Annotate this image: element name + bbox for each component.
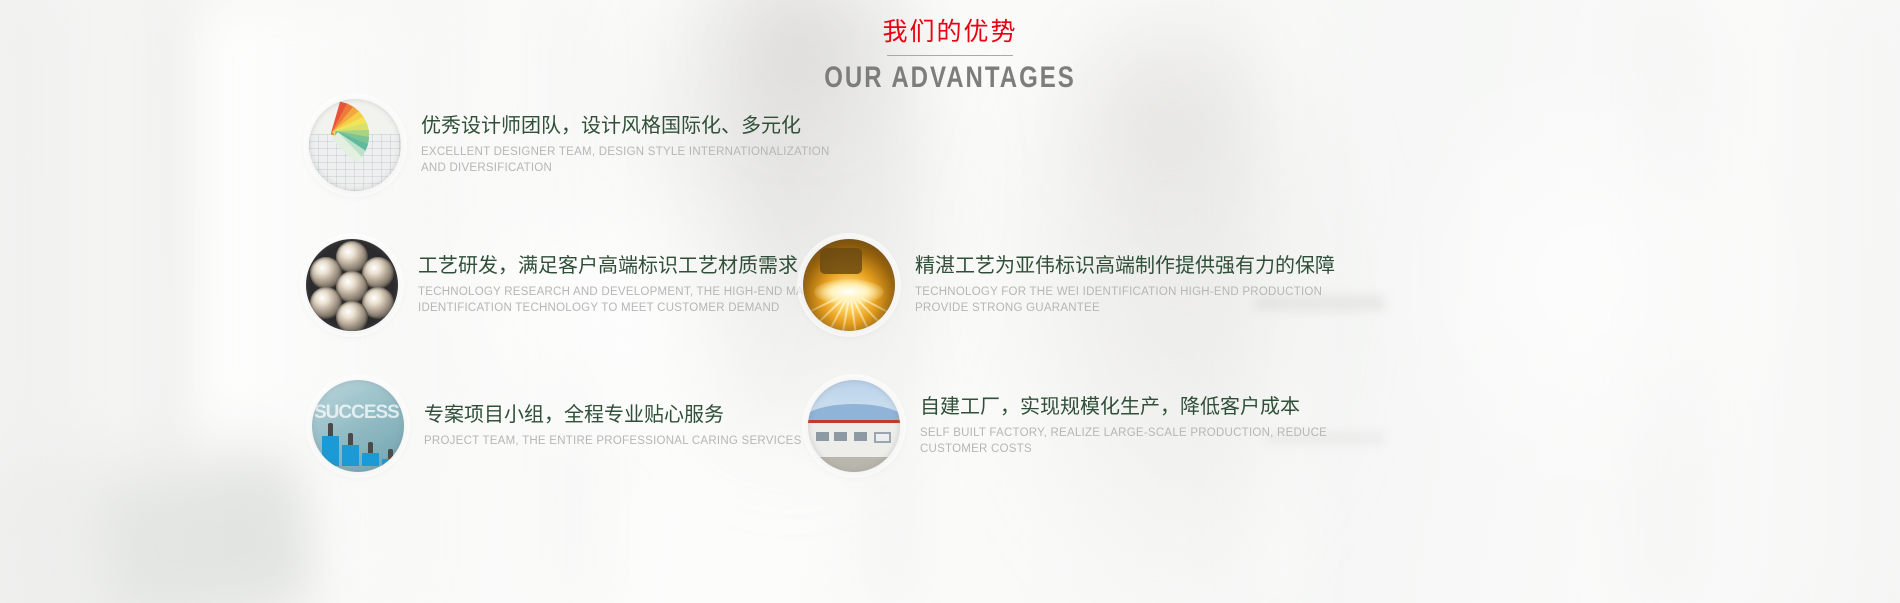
color-swatch-fan-icon <box>309 99 401 191</box>
title-divider <box>887 55 1013 56</box>
success-chart-icon: SUCCESS <box>312 380 404 472</box>
feature-item-self-built-factory[interactable]: 自建工厂，实现规模化生产，降低客户成本 SELF BUILT FACTORY, … <box>808 380 1327 472</box>
page-title: 我们的优势 <box>0 18 1900 46</box>
feature-headline: 精湛工艺为亚伟标识高端制作提供强有力的保障 <box>915 253 1335 278</box>
feature-subtext: SELF BUILT FACTORY, REALIZE LARGE-SCALE … <box>920 426 1327 457</box>
feature-subtext: PROJECT TEAM, THE ENTIRE PROFESSIONAL CA… <box>424 434 802 450</box>
feature-subtext: TECHNOLOGY RESEARCH AND DEVELOPMENT, THE… <box>418 285 845 316</box>
feature-item-technology-rd[interactable]: 工艺研发，满足客户高端标识工艺材质需求 TECHNOLOGY RESEARCH … <box>306 239 845 331</box>
laser-cutting-sparks-icon <box>803 239 895 331</box>
feature-item-project-team[interactable]: SUCCESS 专案项目小组，全程专业贴心服务 PROJECT TEAM, TH… <box>312 380 802 472</box>
factory-building-icon <box>808 380 900 472</box>
feature-headline: 自建工厂，实现规模化生产，降低客户成本 <box>920 394 1327 419</box>
feature-headline: 工艺研发，满足客户高端标识工艺材质需求 <box>418 253 845 278</box>
metal-tubes-icon <box>306 239 398 331</box>
feature-headline: 优秀设计师团队，设计风格国际化、多元化 <box>421 113 830 138</box>
feature-item-designer-team[interactable]: 优秀设计师团队，设计风格国际化、多元化 EXCELLENT DESIGNER T… <box>309 99 830 191</box>
feature-item-craftsmanship-guarantee[interactable]: 精湛工艺为亚伟标识高端制作提供强有力的保障 TECHNOLOGY FOR THE… <box>803 239 1335 331</box>
feature-subtext: EXCELLENT DESIGNER TEAM, DESIGN STYLE IN… <box>421 145 830 176</box>
section-heading: 我们的优势 OUR ADVANTAGES <box>0 18 1900 95</box>
feature-subtext: TECHNOLOGY FOR THE WEI IDENTIFICATION HI… <box>915 285 1335 316</box>
page-subtitle: OUR ADVANTAGES <box>190 61 1710 95</box>
feature-headline: 专案项目小组，全程专业贴心服务 <box>424 402 802 427</box>
